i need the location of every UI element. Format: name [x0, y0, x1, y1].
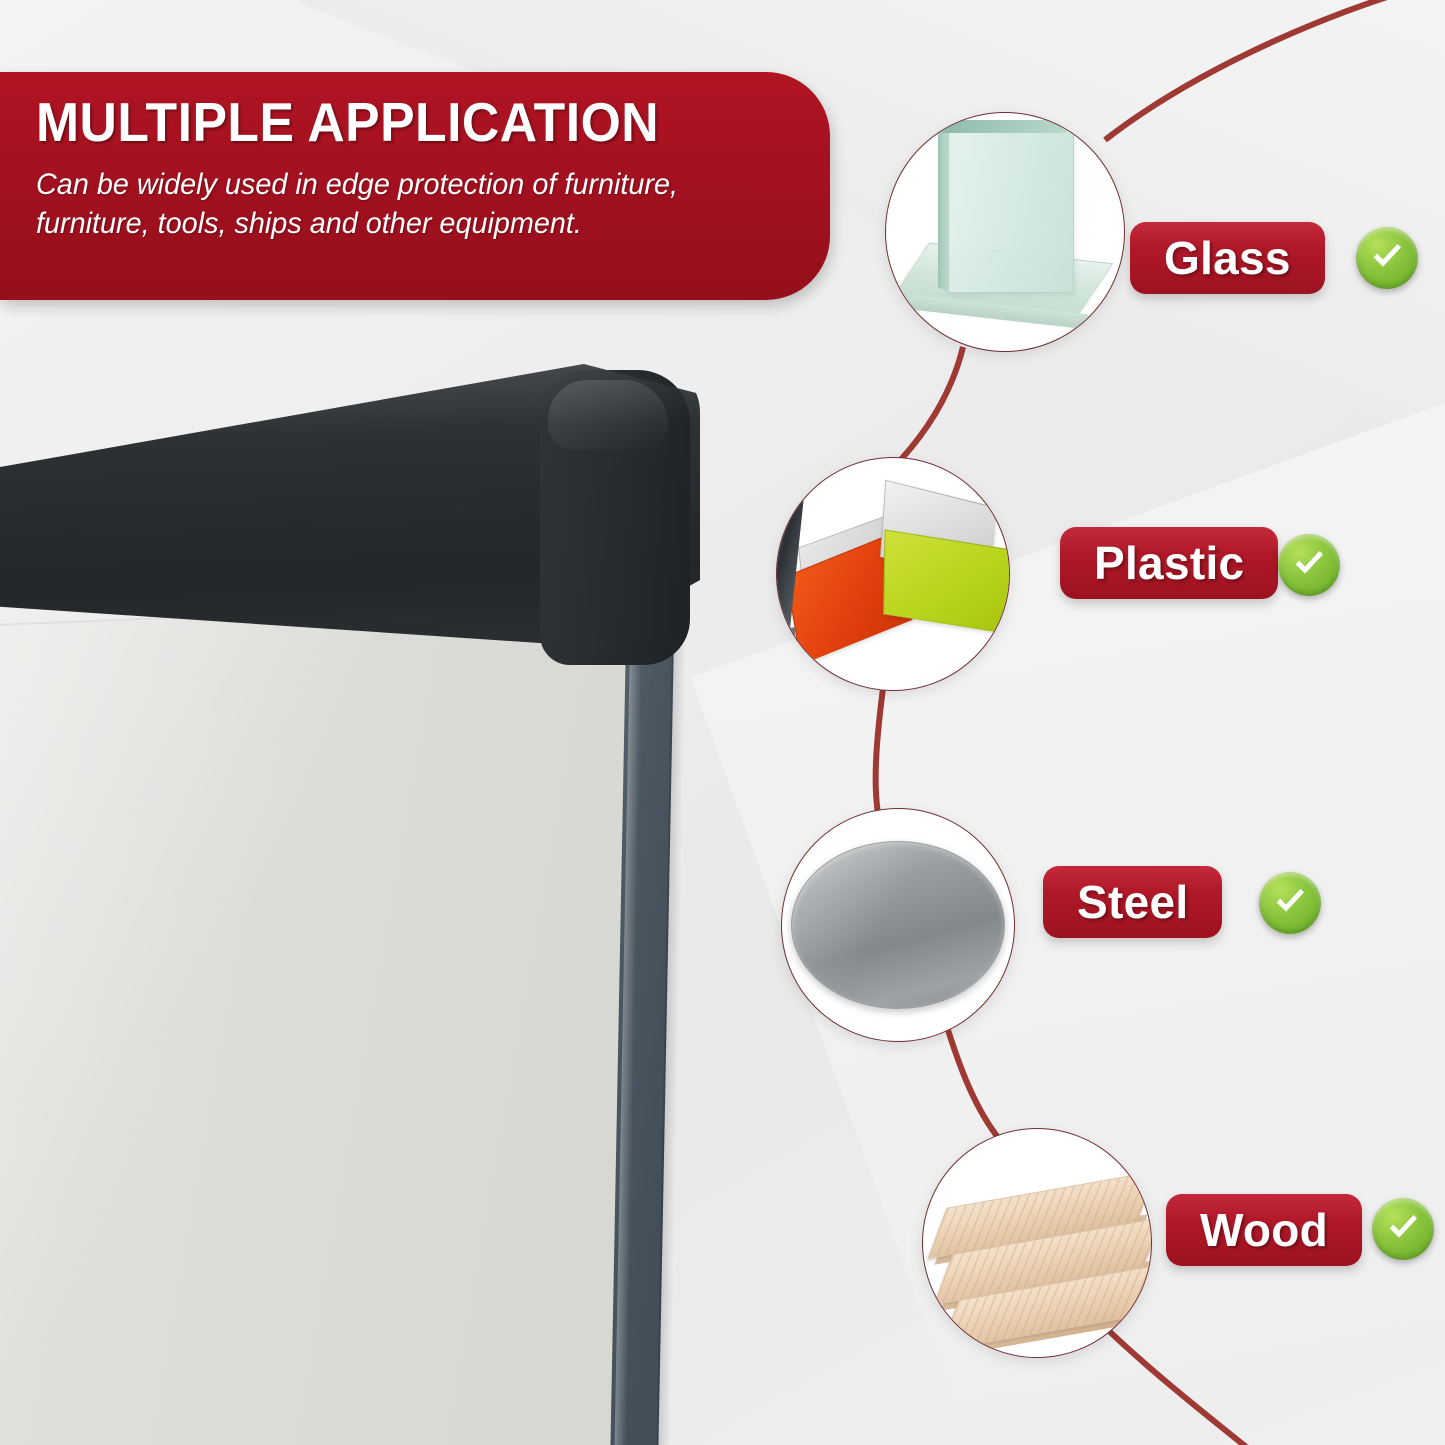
panel-surface [0, 598, 630, 1445]
material-label-glass[interactable]: Glass [1130, 222, 1325, 294]
material-thumb-wood[interactable] [922, 1128, 1152, 1358]
material-label-steel-text: Steel [1077, 879, 1188, 925]
plastic-sheets-icon [777, 458, 1009, 690]
header-banner: MULTIPLE APPLICATION Can be widely used … [0, 72, 830, 300]
check-badge-icon-glass [1356, 227, 1418, 289]
wood-boards-icon [923, 1129, 1151, 1357]
banner-subtitle: Can be widely used in edge protection of… [36, 165, 731, 243]
steel-disc-icon [782, 809, 1014, 1041]
material-thumb-plastic[interactable] [776, 457, 1010, 691]
steel-disc-shape [791, 841, 1005, 1009]
check-badge-icon-plastic [1278, 534, 1340, 596]
material-label-glass-text: Glass [1164, 235, 1291, 281]
material-label-wood[interactable]: Wood [1166, 1194, 1362, 1266]
check-badge-icon-wood [1372, 1198, 1434, 1260]
glass-panel-icon [886, 113, 1124, 351]
edge-guard-end-cap [540, 370, 690, 665]
material-label-plastic[interactable]: Plastic [1060, 527, 1278, 599]
banner-title: MULTIPLE APPLICATION [36, 94, 717, 151]
check-badge-icon-steel [1259, 872, 1321, 934]
material-thumb-glass[interactable] [885, 112, 1125, 352]
glass-panel-top-edge [937, 120, 1074, 133]
material-label-wood-text: Wood [1200, 1207, 1328, 1253]
material-thumb-steel[interactable] [781, 808, 1015, 1042]
infographic-stage: Glass Plastic Steel [0, 0, 1445, 1445]
product-photo [0, 350, 760, 1445]
material-label-steel[interactable]: Steel [1043, 866, 1222, 938]
glass-panel-face [948, 127, 1074, 293]
material-label-plastic-text: Plastic [1094, 540, 1244, 586]
